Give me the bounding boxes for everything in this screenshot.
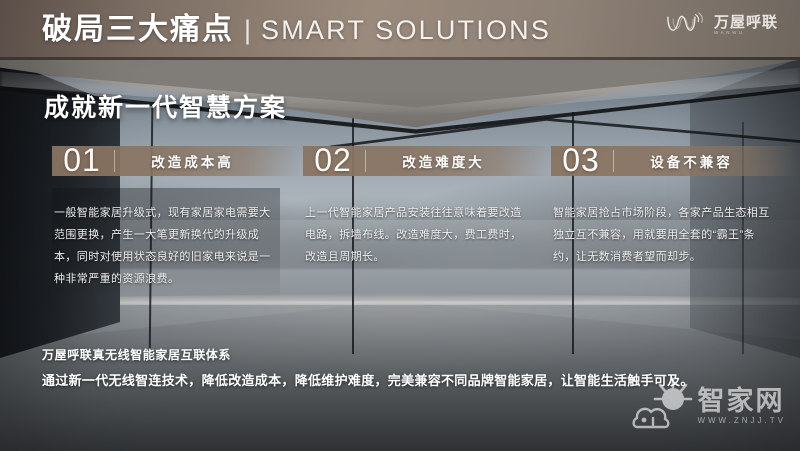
footer-heading: 万屋呼联真无线智能家居互联体系 xyxy=(42,346,694,363)
wave-w-logo-icon xyxy=(666,12,708,38)
card-body-2: 上一代智能家居产品安装往往意味着要改造电路，拆墙布线。改造难度大，费工费时，改造… xyxy=(303,188,531,278)
pain-point-card-3: 03 设备不兼容 智能家居抢占市场阶段，各家产品生态相互独立互不兼容，用就要用全… xyxy=(551,146,800,278)
card-number-2: 02 xyxy=(303,144,363,176)
title-separator: | xyxy=(244,17,251,44)
brand-name-cn: 万屋呼联 xyxy=(714,15,778,31)
card-body-1: 一般智能家居升级式，现有家居家电需要大范围更换，产生一大笔更新换代的升级成本，同… xyxy=(52,188,280,300)
card-number-1: 01 xyxy=(52,144,112,176)
page-title-cn: 破局三大痛点 xyxy=(42,15,234,45)
band-divider-2 xyxy=(365,150,366,172)
smart-home-sun-icon xyxy=(631,375,693,437)
card-title-3: 设备不兼容 xyxy=(616,151,800,171)
brand-logo: 万屋呼联 WANWU xyxy=(666,12,778,38)
pain-point-card-1: 01 改造成本高 一般智能家居升级式，现有家居家电需要大范围更换，产生一大笔更新… xyxy=(52,146,302,300)
band-divider-1 xyxy=(114,150,115,172)
watermark-name: 智家网 xyxy=(697,387,784,415)
slide: 破局三大痛点 | SMART SOLUTIONS 万屋呼联 WANWU 成就新一… xyxy=(0,0,800,451)
page-title-en: SMART SOLUTIONS xyxy=(261,17,551,44)
pain-point-card-2: 02 改造难度大 上一代智能家居产品安装往往意味着要改造电路，拆墙布线。改造难度… xyxy=(303,146,553,278)
card-number-3: 03 xyxy=(551,144,611,176)
card-body-3: 智能家居抢占市场阶段，各家产品生态相互独立互不兼容，用就要用全套的“霸王”条约，… xyxy=(551,188,779,278)
site-watermark: 智家网 WWW.ZNJJ.TV xyxy=(631,375,786,437)
card-title-1: 改造成本高 xyxy=(117,151,302,171)
brand-text: 万屋呼联 WANWU xyxy=(714,15,778,36)
card-band-3: 03 设备不兼容 xyxy=(551,146,800,176)
footer-paragraph: 通过新一代无线智连技术，降低改造成本，降低维护难度，完美兼容不同品牌智能家居，让… xyxy=(42,370,694,389)
card-title-2: 改造难度大 xyxy=(368,151,553,171)
watermark-text: 智家网 WWW.ZNJJ.TV xyxy=(697,387,786,425)
header-bar: 破局三大痛点 | SMART SOLUTIONS 万屋呼联 WANWU xyxy=(0,0,800,60)
card-band-1: 01 改造成本高 xyxy=(52,146,302,176)
card-band-2: 02 改造难度大 xyxy=(303,146,553,176)
band-divider-3 xyxy=(613,150,614,172)
brand-name-en: WANWU xyxy=(714,30,745,35)
header-title-group: 破局三大痛点 | SMART SOLUTIONS xyxy=(0,15,551,45)
watermark-url: WWW.ZNJJ.TV xyxy=(697,416,786,425)
section-subtitle: 成就新一代智慧方案 xyxy=(44,88,287,124)
footer-block: 万屋呼联真无线智能家居互联体系 通过新一代无线智连技术，降低改造成本，降低维护难… xyxy=(42,346,694,389)
